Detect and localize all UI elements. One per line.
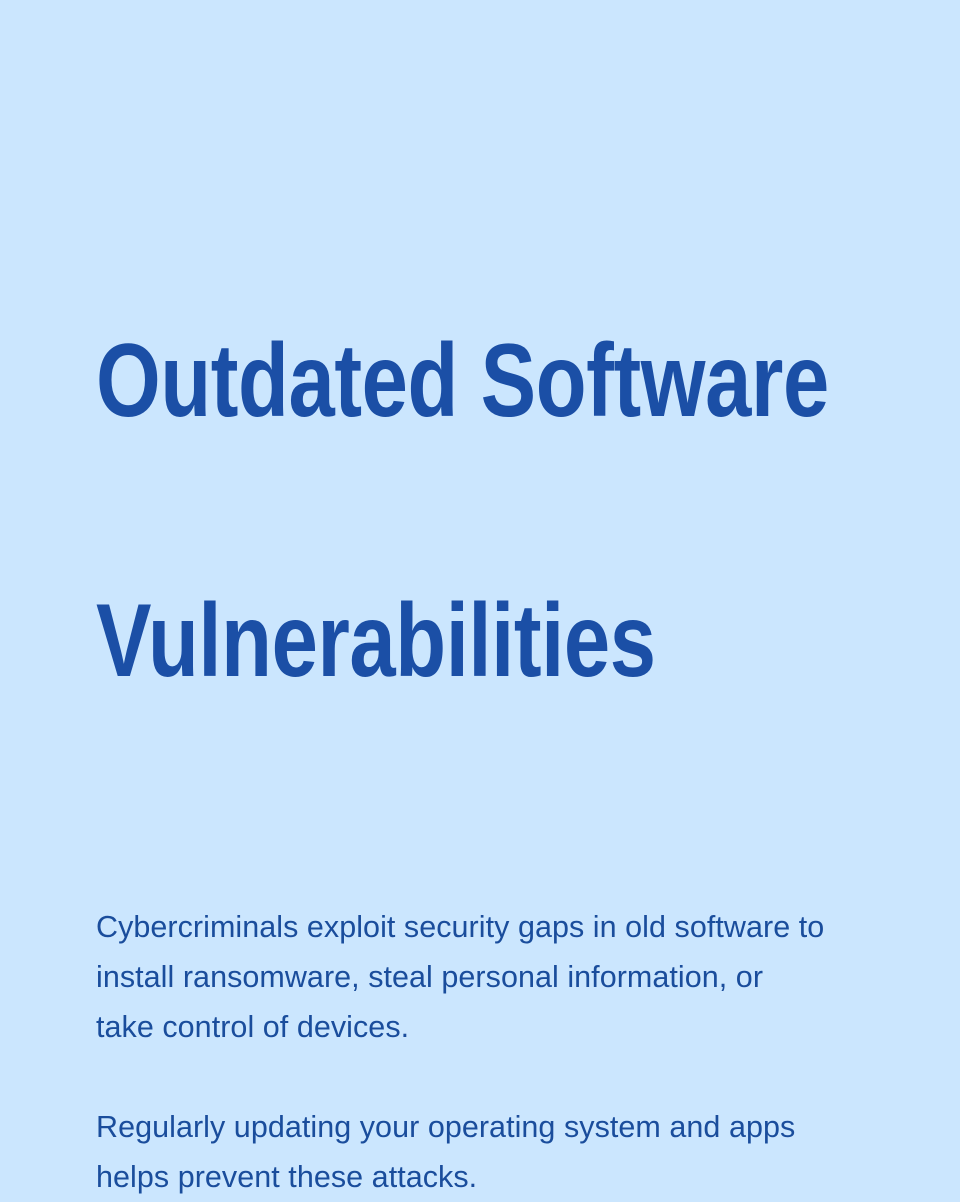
body-paragraph-2: Regularly updating your operating system… (96, 1102, 826, 1202)
slide-canvas: Outdated Software Vulnerabilities Cyberc… (0, 0, 960, 1200)
body-copy: Cybercriminals exploit security gaps in … (96, 836, 856, 1202)
page-title: Outdated Software Vulnerabilities (96, 186, 856, 836)
page-title-line-2: Vulnerabilities (96, 576, 856, 706)
content-column: Outdated Software Vulnerabilities Cyberc… (96, 186, 856, 1202)
body-paragraph-1: Cybercriminals exploit security gaps in … (96, 902, 826, 1052)
page-title-line-1: Outdated Software (96, 316, 856, 446)
